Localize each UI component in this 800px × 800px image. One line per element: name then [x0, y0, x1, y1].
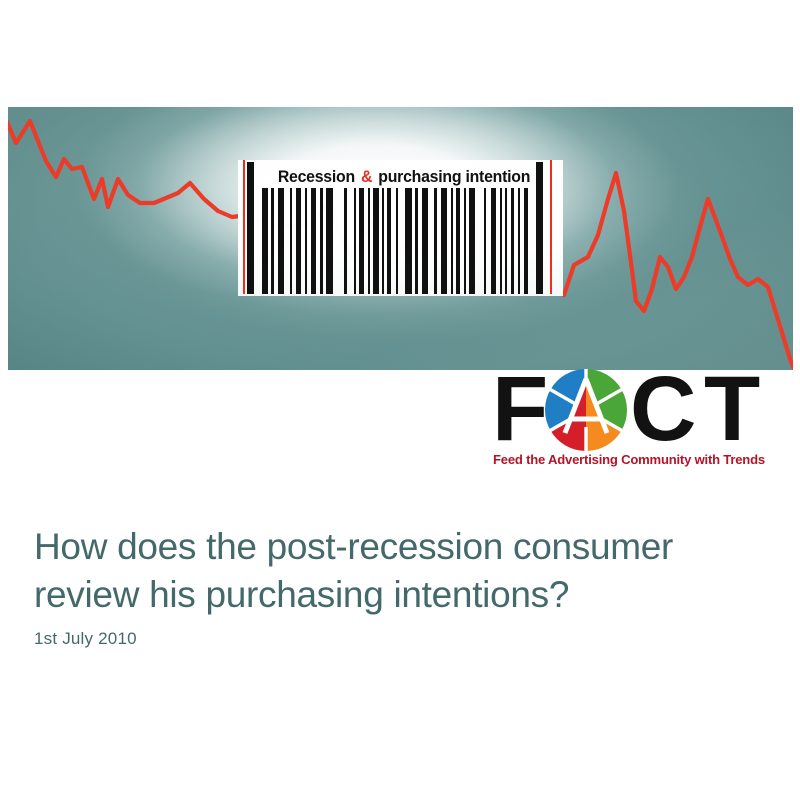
barcode-rail-left	[243, 160, 245, 294]
title-slide: Recession & purchasing intention	[0, 0, 800, 800]
barcode-edge-left	[247, 162, 254, 294]
slide-date: 1st July 2010	[34, 629, 137, 649]
fact-logo: F	[492, 366, 794, 478]
barcode-rail-right	[550, 160, 552, 294]
barcode-title-prefix: Recession	[278, 168, 355, 187]
fact-logo-letter-f: F	[492, 366, 546, 452]
fact-logo-letter-a-pie-icon	[545, 369, 627, 451]
fact-logo-letter-t: T	[704, 366, 758, 452]
fact-logo-wordmark: F	[492, 366, 794, 452]
barcode-title-suffix: purchasing intention	[378, 168, 530, 187]
barcode-edge-right	[536, 162, 543, 294]
barcode-title-text: Recession & purchasing intention	[266, 164, 542, 190]
barcode-graphic: Recession & purchasing intention	[238, 160, 563, 296]
fact-logo-tagline: Feed the Advertising Community with Tren…	[493, 452, 792, 467]
slide-title: How does the post-recession consumer rev…	[34, 523, 764, 619]
barcode-title-ampersand: &	[359, 168, 374, 187]
barcode-bars	[238, 188, 563, 294]
fact-logo-letter-c: C	[630, 366, 694, 452]
slide-title-line-1: How does the post-recession consumer	[34, 523, 764, 571]
slide-title-line-2: review his purchasing intentions?	[34, 571, 764, 619]
